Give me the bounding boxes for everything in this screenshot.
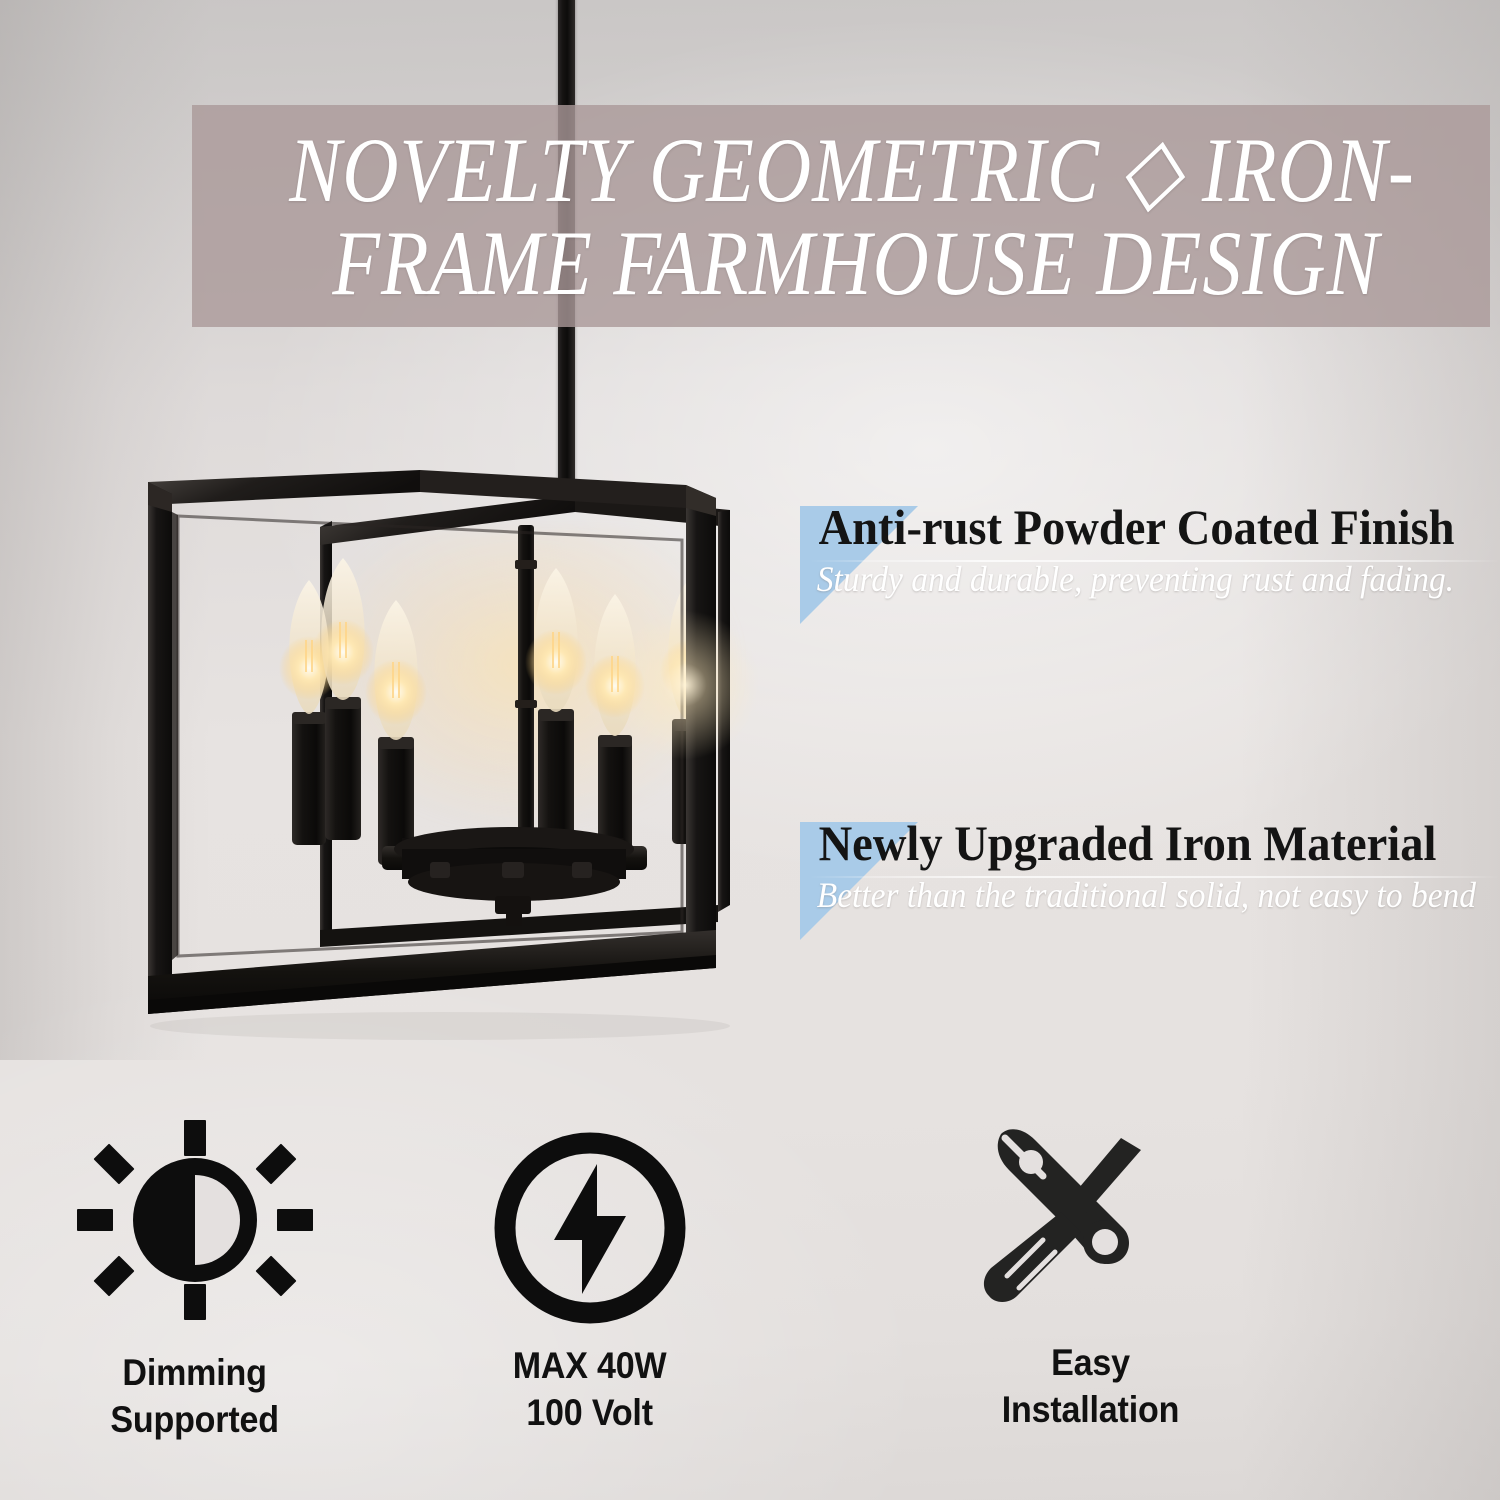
lightning-bolt-icon	[490, 1128, 690, 1328]
badge-label: MAX 40W 100 Volt	[513, 1342, 667, 1437]
product-marketing-image: NOVELTY GEOMETRIC ◇ IRON- FRAME FARMHOUS…	[0, 0, 1500, 1500]
dimming-sun-icon	[75, 1120, 315, 1335]
badge-label-line2: Installation	[1001, 1386, 1178, 1433]
feature-subtitle: Better than the traditional solid, not e…	[800, 877, 1451, 915]
badge-easy-installation: Easy Installation	[965, 1120, 1215, 1434]
feature-heading: Newly Upgraded Iron Material	[800, 818, 1451, 869]
feature-block-anti-rust: Anti-rust Powder Coated Finish Sturdy an…	[800, 502, 1500, 599]
badge-label-line1: Dimming	[111, 1349, 280, 1396]
badge-label-line2: Supported	[111, 1396, 280, 1443]
banner-line-1: NOVELTY GEOMETRIC ◇ IRON-	[267, 124, 1415, 215]
tools-icon	[965, 1120, 1215, 1325]
candle-bulb	[365, 600, 427, 865]
badge-label-line2: 100 Volt	[513, 1389, 667, 1436]
feature-subtitle: Sturdy and durable, preventing rust and …	[800, 561, 1451, 599]
feature-heading: Anti-rust Powder Coated Finish	[800, 502, 1451, 553]
badge-label-line1: MAX 40W	[513, 1342, 667, 1389]
badge-dimming-supported: Dimming Supported	[75, 1120, 315, 1444]
feature-badge-row: Dimming Supported MAX 40W 100 Volt	[0, 1120, 1500, 1460]
candle-bulb	[525, 568, 587, 852]
banner-line-2: FRAME FARMHOUSE DESIGN	[302, 217, 1379, 308]
badge-label: Easy Installation	[1001, 1339, 1178, 1434]
badge-max-wattage: MAX 40W 100 Volt	[470, 1128, 710, 1437]
badge-label-line1: Easy	[1001, 1339, 1178, 1386]
candle-bulb	[585, 594, 645, 858]
feature-block-iron-material: Newly Upgraded Iron Material Better than…	[800, 818, 1500, 915]
bulb-cluster	[279, 525, 716, 926]
title-banner: NOVELTY GEOMETRIC ◇ IRON- FRAME FARMHOUS…	[192, 105, 1490, 327]
badge-label: Dimming Supported	[111, 1349, 280, 1444]
